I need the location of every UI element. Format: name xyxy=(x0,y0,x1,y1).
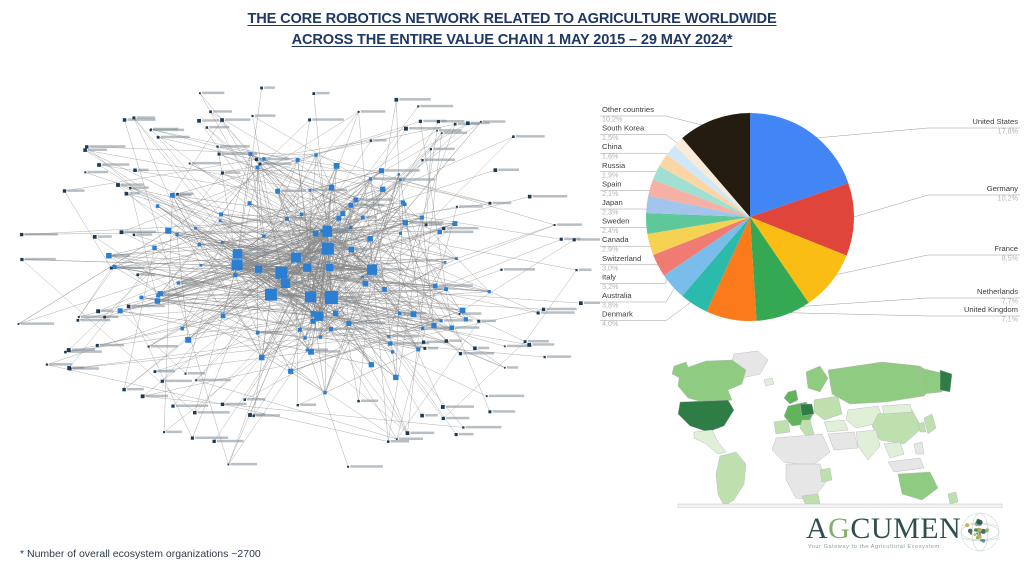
network-node xyxy=(308,349,314,355)
map-country xyxy=(800,404,814,416)
network-node xyxy=(285,217,289,221)
network-node xyxy=(309,189,312,192)
network-node xyxy=(133,169,137,173)
network-node xyxy=(464,317,468,321)
network-node xyxy=(444,287,448,291)
network-node xyxy=(455,257,458,260)
network-node xyxy=(504,367,506,369)
network-node xyxy=(404,127,408,131)
network-node xyxy=(158,291,163,296)
world-map-panel xyxy=(672,348,1008,508)
pie-label-name: China xyxy=(602,142,623,151)
network-node xyxy=(127,305,131,309)
logo-tagline: Your Gateway to the Agricultural Ecosyst… xyxy=(808,544,940,550)
network-node xyxy=(303,336,306,339)
network-node xyxy=(398,173,401,176)
network-node xyxy=(442,227,445,230)
network-node xyxy=(494,168,498,172)
network-node xyxy=(441,132,443,134)
pie-label-name: Switzerland xyxy=(602,254,641,263)
network-node xyxy=(391,350,394,353)
network-node xyxy=(369,362,374,367)
network-node xyxy=(256,166,260,170)
slide-root: THE CORE ROBOTICS NETWORK RELATED TO AGR… xyxy=(0,0,1024,576)
network-node xyxy=(444,261,447,264)
footnote-text: * Number of overall ecosystem organizati… xyxy=(20,548,261,560)
network-node xyxy=(329,327,333,331)
network-node xyxy=(150,129,152,131)
network-node xyxy=(430,148,432,150)
network-node xyxy=(288,369,293,374)
network-node xyxy=(221,241,224,244)
network-node xyxy=(122,388,125,391)
network-node xyxy=(228,464,230,466)
network-node xyxy=(194,227,197,230)
network-node xyxy=(455,433,458,436)
map-country xyxy=(694,430,726,454)
network-node xyxy=(303,264,311,272)
network-node xyxy=(232,259,243,270)
map-country xyxy=(814,396,842,420)
network-node xyxy=(459,352,462,355)
network-node xyxy=(500,269,502,271)
network-node xyxy=(486,395,488,397)
network-node xyxy=(357,400,360,403)
pie-label-percent: 3,2% xyxy=(602,282,619,291)
network-node xyxy=(560,238,563,241)
network-node xyxy=(528,195,532,199)
network-node xyxy=(200,264,203,267)
network-node xyxy=(141,394,145,398)
network-node xyxy=(361,216,365,220)
map-country xyxy=(678,360,746,404)
pie-label-name: Sweden xyxy=(602,217,629,226)
country-share-pie-chart: United States17,8%Germany10,2%France8,5%… xyxy=(596,96,1024,341)
network-node xyxy=(296,158,300,162)
map-country xyxy=(948,492,958,504)
network-node xyxy=(110,267,113,270)
network-node xyxy=(308,118,311,121)
network-node xyxy=(369,177,372,180)
network-node xyxy=(140,296,144,300)
network-node xyxy=(387,335,390,338)
network-node xyxy=(120,230,124,234)
network-node xyxy=(161,380,164,383)
pie-label-percent: 1,6% xyxy=(602,152,619,161)
pie-label-name: United States xyxy=(972,117,1018,126)
map-country xyxy=(800,420,814,436)
network-node xyxy=(340,211,345,216)
network-node xyxy=(347,466,349,468)
network-node xyxy=(439,319,442,322)
network-node xyxy=(504,345,506,347)
world-choropleth-map xyxy=(672,348,1008,508)
network-node xyxy=(218,153,221,156)
network-node xyxy=(379,168,384,173)
network-node xyxy=(216,146,218,148)
network-graph xyxy=(0,78,600,478)
network-node xyxy=(103,316,106,319)
network-node xyxy=(123,118,127,122)
network-node xyxy=(395,98,399,102)
network-node xyxy=(387,440,390,443)
network-node xyxy=(165,228,171,234)
network-node xyxy=(305,291,316,302)
network-node xyxy=(425,224,428,227)
pie-label-percent: 2,9% xyxy=(602,245,619,254)
network-node xyxy=(20,233,23,236)
pie-label-percent: 3,0% xyxy=(602,263,619,272)
pie-label-percent: 17,8% xyxy=(998,127,1019,136)
network-node xyxy=(433,284,438,289)
network-node xyxy=(473,347,477,351)
network-node xyxy=(85,145,88,148)
network-node xyxy=(459,313,461,315)
network-node xyxy=(420,414,424,418)
network-node xyxy=(348,203,353,208)
network-node xyxy=(456,206,458,208)
network-node xyxy=(93,235,97,239)
network-node xyxy=(298,328,302,332)
map-country xyxy=(828,432,858,450)
network-node xyxy=(399,232,402,235)
pie-label-percent: 2,4% xyxy=(602,226,619,235)
map-country xyxy=(872,410,922,444)
network-node xyxy=(191,437,194,440)
network-node xyxy=(154,370,157,373)
network-node xyxy=(462,426,464,428)
network-node xyxy=(449,326,454,331)
network-node xyxy=(527,343,531,347)
pie-label-percent: 8,5% xyxy=(1002,254,1019,263)
network-node xyxy=(18,323,20,325)
network-node xyxy=(436,130,438,132)
network-node xyxy=(252,415,255,418)
network-node xyxy=(417,105,419,107)
map-country xyxy=(940,370,952,392)
pie-label-name: Other countries xyxy=(602,105,654,114)
network-node xyxy=(198,243,202,247)
pie-label-name: Japan xyxy=(602,198,623,207)
network-node xyxy=(170,193,175,198)
pie-label-percent: 1,5% xyxy=(602,133,619,142)
network-node xyxy=(537,311,540,314)
network-node xyxy=(320,230,323,233)
map-country xyxy=(772,434,830,466)
network-node xyxy=(193,411,196,414)
network-node xyxy=(265,289,277,301)
network-node xyxy=(488,410,491,413)
pie-label-percent: 4,0% xyxy=(602,319,619,328)
network-node xyxy=(97,163,101,167)
network-node xyxy=(255,266,262,273)
network-node xyxy=(358,111,360,113)
network-node xyxy=(256,331,260,335)
pie-label-name: South Korea xyxy=(602,124,645,133)
network-node xyxy=(233,249,243,259)
page-title-line-2: ACROSS THE ENTIRE VALUE CHAIN 1 MAY 2015… xyxy=(292,31,733,50)
network-node xyxy=(221,171,224,174)
network-node xyxy=(132,116,135,119)
network-node xyxy=(399,179,402,182)
map-country xyxy=(820,468,832,482)
network-node xyxy=(423,347,426,350)
network-node xyxy=(406,431,410,435)
network-node xyxy=(575,269,577,271)
network-node xyxy=(78,316,80,318)
logo-wordmark: AGCUMEN xyxy=(806,512,961,546)
network-node xyxy=(220,118,224,122)
page-title: THE CORE ROBOTICS NETWORK RELATED TO AGR… xyxy=(0,8,1024,51)
network-node xyxy=(63,189,66,192)
network-node xyxy=(206,126,209,129)
network-node xyxy=(311,311,317,317)
pie-label-name: Russia xyxy=(602,161,626,170)
network-node xyxy=(419,120,422,123)
network-node xyxy=(177,281,180,284)
network-node xyxy=(125,192,129,196)
map-country xyxy=(784,390,798,404)
network-node xyxy=(421,159,423,161)
network-node xyxy=(297,404,299,406)
logo-word-rest: CUMEN xyxy=(850,512,961,545)
network-node xyxy=(180,327,184,331)
network-node xyxy=(221,314,226,319)
map-country xyxy=(764,378,774,386)
map-country xyxy=(856,430,880,460)
network-node xyxy=(281,279,290,288)
network-node xyxy=(185,373,187,375)
network-node xyxy=(300,213,304,217)
network-node xyxy=(542,308,545,311)
network-node xyxy=(346,321,351,326)
network-node xyxy=(325,291,338,304)
network-node xyxy=(233,273,237,277)
network-node xyxy=(441,405,445,409)
network-node xyxy=(262,157,266,161)
network-node xyxy=(380,187,385,192)
network-node xyxy=(133,234,136,237)
network-node xyxy=(219,219,222,222)
pie-label-percent: 7,1% xyxy=(1002,315,1019,324)
pie-label-name: Denmark xyxy=(602,310,633,319)
map-country xyxy=(888,458,924,472)
agcumen-logo: AGCUMEN Your Gateway to the Agricultural… xyxy=(806,508,1002,564)
network-node xyxy=(199,92,201,94)
network-node xyxy=(420,216,424,220)
network-node xyxy=(118,308,123,313)
map-country xyxy=(824,420,848,432)
network-node xyxy=(176,193,179,196)
map-country xyxy=(914,442,924,454)
network-node xyxy=(361,276,364,279)
network-node xyxy=(157,136,160,139)
network-node xyxy=(477,320,480,323)
network-node xyxy=(454,123,457,126)
pie-label-percent: 10,2% xyxy=(602,115,623,124)
network-node xyxy=(329,185,335,191)
network-node xyxy=(259,163,262,166)
network-node xyxy=(311,319,316,324)
network-node xyxy=(67,348,71,352)
network-node xyxy=(388,341,392,345)
pie-label-name: France xyxy=(994,244,1018,253)
map-country xyxy=(786,464,826,500)
network-node xyxy=(175,233,178,236)
pie-label-name: Germany xyxy=(987,184,1018,193)
pie-label-name: Australia xyxy=(602,291,632,300)
network-node xyxy=(349,226,352,229)
network-node xyxy=(512,135,515,138)
network-node xyxy=(77,319,80,322)
network-node xyxy=(148,346,150,348)
network-globe-mark-icon xyxy=(958,510,1002,554)
network-node xyxy=(64,351,67,354)
network-node xyxy=(438,230,442,234)
network-node xyxy=(573,238,576,241)
network-node xyxy=(524,340,527,343)
network-node xyxy=(197,119,201,123)
pie-label-percent: 2,3% xyxy=(602,208,619,217)
network-node xyxy=(255,158,258,161)
network-node xyxy=(431,323,436,328)
map-country xyxy=(882,404,912,414)
network-node xyxy=(349,247,355,253)
network-node xyxy=(68,367,71,370)
page-title-line-1: THE CORE ROBOTICS NETWORK RELATED TO AGR… xyxy=(247,10,776,29)
pie-label-percent: 3,8% xyxy=(602,301,619,310)
network-node xyxy=(422,341,425,344)
network-node xyxy=(403,202,407,206)
network-node xyxy=(466,121,470,125)
network-node xyxy=(445,339,448,342)
pie-label-name: Italy xyxy=(602,272,616,281)
network-node xyxy=(106,253,112,259)
pie-label-percent: 2,1% xyxy=(602,189,619,198)
network-node xyxy=(367,236,373,242)
network-node xyxy=(156,204,160,208)
network-node xyxy=(195,379,197,381)
network-node xyxy=(185,337,191,343)
pie-label-name: Spain xyxy=(602,179,621,188)
network-node xyxy=(20,258,23,261)
network-node xyxy=(84,171,86,173)
network-node xyxy=(46,364,48,366)
network-node xyxy=(312,92,315,95)
network-node xyxy=(291,253,301,263)
map-country xyxy=(884,442,904,458)
network-graph-panel xyxy=(0,78,600,478)
network-node xyxy=(209,110,212,113)
network-node xyxy=(248,413,252,417)
network-node xyxy=(219,212,223,216)
network-node xyxy=(367,265,377,275)
network-node xyxy=(262,234,265,237)
network-node xyxy=(152,246,156,250)
logo-letter-g: G xyxy=(828,512,850,545)
network-node xyxy=(336,216,341,221)
network-node xyxy=(396,438,398,440)
map-country xyxy=(898,472,938,500)
network-node xyxy=(544,356,546,358)
network-node xyxy=(370,139,372,141)
network-node xyxy=(112,265,116,269)
network-node xyxy=(319,335,322,338)
network-node xyxy=(393,375,398,380)
network-node xyxy=(251,115,253,117)
network-node xyxy=(453,221,458,226)
pie-chart-panel: United States17,8%Germany10,2%France8,5%… xyxy=(596,96,1024,341)
pie-label-name: United Kingdom xyxy=(964,305,1018,314)
map-country xyxy=(678,400,734,432)
network-node xyxy=(213,440,216,443)
network-node xyxy=(554,224,556,226)
map-country xyxy=(774,420,790,434)
network-node xyxy=(96,309,100,313)
logo-letter-a: A xyxy=(806,512,828,545)
network-node xyxy=(421,327,425,331)
network-node xyxy=(489,202,492,205)
map-country xyxy=(716,452,746,506)
network-node xyxy=(244,398,247,401)
network-node xyxy=(334,163,340,169)
pie-label-percent: 1,9% xyxy=(602,170,619,179)
network-node xyxy=(136,273,139,276)
network-node xyxy=(314,153,317,156)
network-node xyxy=(324,231,327,234)
network-node xyxy=(403,220,408,225)
network-node xyxy=(488,290,491,293)
network-node xyxy=(326,264,333,271)
network-node xyxy=(382,287,387,292)
network-node xyxy=(480,121,482,123)
network-node xyxy=(313,231,319,237)
network-node xyxy=(333,311,338,316)
network-node xyxy=(460,308,466,314)
network-node xyxy=(363,281,369,287)
network-node xyxy=(275,267,287,279)
network-node xyxy=(171,405,174,408)
network-node xyxy=(155,298,161,304)
network-node xyxy=(323,391,326,394)
network-node xyxy=(260,87,263,90)
network-node xyxy=(96,344,99,347)
network-node xyxy=(437,120,440,123)
network-node xyxy=(411,311,417,317)
map-country xyxy=(806,366,828,392)
network-node xyxy=(416,347,420,351)
network-node xyxy=(275,189,280,194)
network-node xyxy=(579,301,583,305)
network-node xyxy=(116,183,120,187)
network-node xyxy=(163,431,165,433)
network-node xyxy=(129,187,131,189)
pie-label-name: Canada xyxy=(602,235,629,244)
network-node xyxy=(398,312,402,316)
network-node xyxy=(248,201,252,205)
network-node xyxy=(221,403,224,406)
network-node xyxy=(83,148,87,152)
network-node xyxy=(259,355,265,361)
network-node xyxy=(248,152,252,156)
network-node xyxy=(322,243,334,255)
network-node xyxy=(442,417,445,420)
pie-label-name: Netherlands xyxy=(977,287,1018,296)
pie-label-percent: 10,2% xyxy=(998,194,1019,203)
network-node xyxy=(354,198,359,203)
network-node xyxy=(189,163,191,165)
